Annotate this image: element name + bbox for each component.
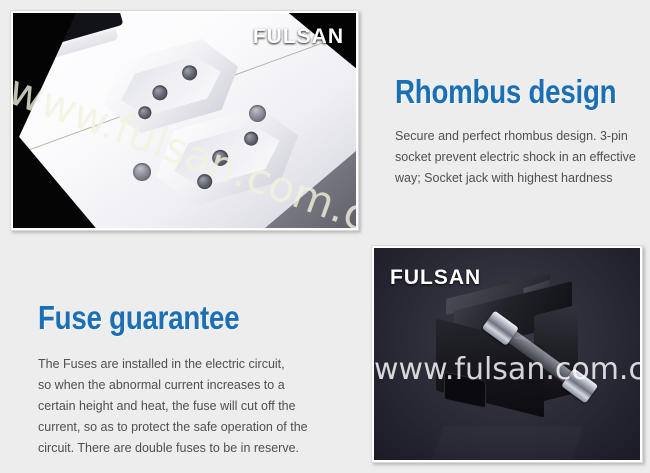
fuse-photo-inner: www.fulsan.com.cn FULSAN	[374, 248, 640, 460]
socket-product-photo: www.fulsan.com.cn FULSAN	[10, 10, 359, 231]
socket-photo-inner: www.fulsan.com.cn FULSAN	[13, 13, 356, 228]
fuse-product-photo: www.fulsan.com.cn FULSAN	[371, 245, 643, 463]
faceplate-screw-hole-upper	[249, 105, 266, 122]
fulsan-logo: FULSAN	[253, 25, 344, 49]
fuse-body-line: The Fuses are installed in the electric …	[38, 354, 358, 375]
rhombus-body-line: socket prevent electric shock in an effe…	[395, 147, 645, 168]
rhombus-body-line: way; Socket jack with highest hardness	[395, 168, 645, 189]
fuse-guarantee-headline: Fuse guarantee	[38, 300, 307, 336]
faceplate-screw-hole-lower	[133, 163, 151, 181]
fuse-photo-scene: www.fulsan.com.cn FULSAN	[374, 248, 640, 460]
fuse-guarantee-body: The Fuses are installed in the electric …	[38, 354, 358, 459]
fuse-body-line: circuit. There are double fuses to be in…	[38, 438, 358, 459]
rhombus-socket-upper-recess	[115, 50, 227, 121]
fuse-body-line: current, so as to protect the safe opera…	[38, 417, 358, 438]
rhombus-body-line: Secure and perfect rhombus design. 3-pin	[395, 126, 645, 147]
fuse-guarantee-text-block: Fuse guarantee The Fuses are installed i…	[38, 300, 358, 459]
fulsan-logo: FULSAN	[390, 266, 481, 290]
rhombus-design-body: Secure and perfect rhombus design. 3-pin…	[395, 126, 645, 189]
rhombus-design-headline: Rhombus design	[395, 74, 605, 110]
fuse-body-line: certain height and heat, the fuse will c…	[38, 396, 358, 417]
rhombus-design-text-block: Rhombus design Secure and perfect rhombu…	[395, 74, 645, 189]
socket-photo-scene: www.fulsan.com.cn FULSAN	[13, 13, 356, 228]
product-feature-collage: www.fulsan.com.cn FULSAN Rhombus design …	[0, 0, 650, 473]
fuse-surface-reflection	[429, 426, 584, 460]
fuse-body-line: so when the abnormal current increases t…	[38, 375, 358, 396]
